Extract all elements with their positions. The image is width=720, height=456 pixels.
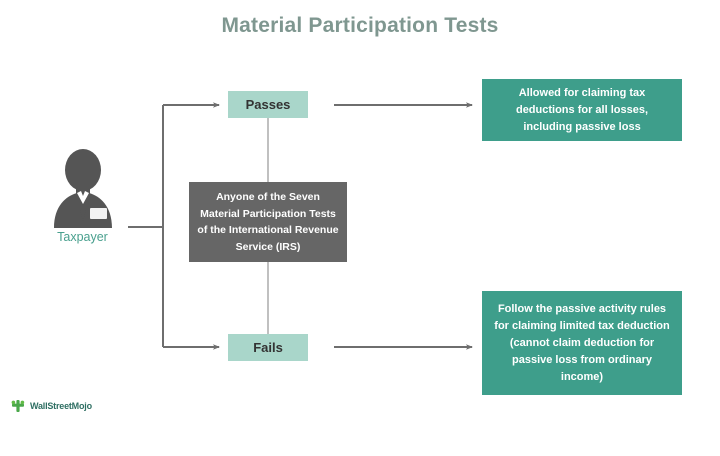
node-passes[interactable]: Passes — [228, 91, 308, 118]
node-outcome-pass-text: Allowed for claiming tax deductions for … — [492, 85, 672, 136]
node-fails-label: Fails — [228, 340, 308, 355]
node-decision-text: Anyone of the Seven Material Participati… — [197, 189, 339, 255]
taxpayer-actor: Taxpayer — [30, 148, 135, 244]
node-outcome-fail-text: Follow the passive activity rules for cl… — [492, 301, 672, 386]
leaf-plus-icon — [10, 398, 26, 414]
page-title: Material Participation Tests — [0, 14, 720, 38]
node-outcome-fail[interactable]: Follow the passive activity rules for cl… — [482, 291, 682, 395]
node-outcome-pass[interactable]: Allowed for claiming tax deductions for … — [482, 79, 682, 141]
person-silhouette-icon — [44, 148, 122, 228]
node-passes-label: Passes — [228, 97, 308, 112]
brand-logo[interactable]: WallStreetMojo — [10, 398, 92, 414]
brand-logo-text: WallStreetMojo — [30, 401, 92, 411]
taxpayer-label: Taxpayer — [30, 230, 135, 244]
node-fails[interactable]: Fails — [228, 334, 308, 361]
node-decision[interactable]: Anyone of the Seven Material Participati… — [189, 182, 347, 262]
diagram-canvas: Material Participation Tests — [0, 0, 720, 456]
